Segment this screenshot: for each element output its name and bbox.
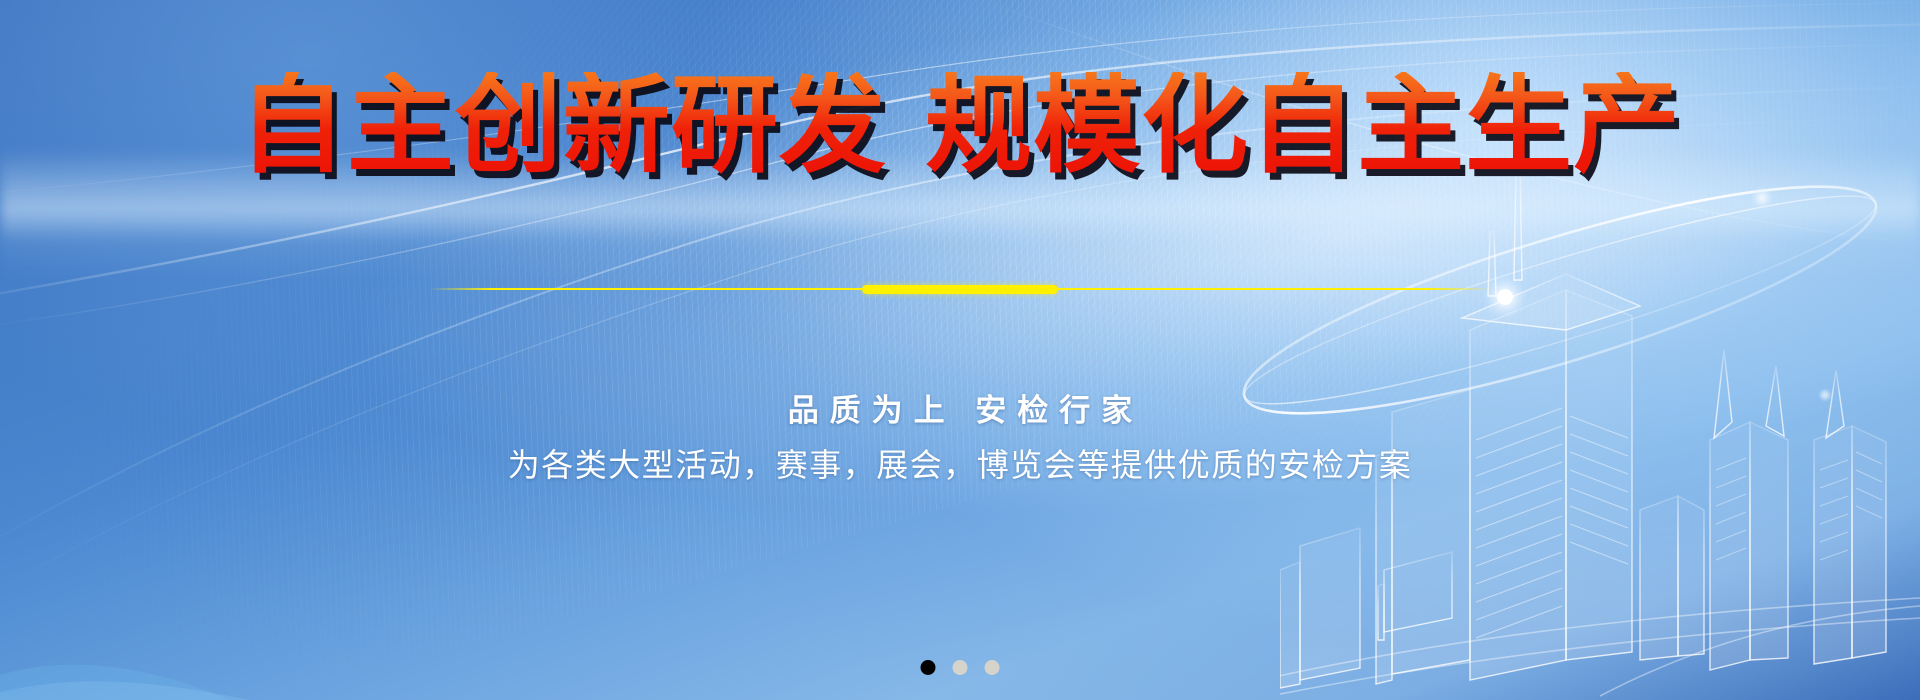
banner-subtitle-primary: 品质为上 安检行家 — [0, 385, 1920, 430]
hero-banner: 自主创新研发 规模化自主生产 品质为上 安检行家 为各类大型活动，赛事，展会，博… — [0, 0, 1920, 700]
carousel-dot-2[interactable] — [953, 660, 968, 675]
banner-content: 自主创新研发 规模化自主生产 品质为上 安检行家 为各类大型活动，赛事，展会，博… — [0, 0, 1920, 700]
banner-headline: 自主创新研发 规模化自主生产 — [0, 72, 1920, 181]
banner-subtitle-secondary: 为各类大型活动，赛事，展会，博览会等提供优质的安检方案 — [0, 440, 1920, 486]
yellow-divider — [429, 283, 1491, 295]
carousel-dots[interactable] — [921, 660, 1000, 675]
carousel-dot-3[interactable] — [985, 660, 1000, 675]
divider-thick-segment — [862, 285, 1058, 294]
carousel-dot-1[interactable] — [921, 660, 936, 675]
